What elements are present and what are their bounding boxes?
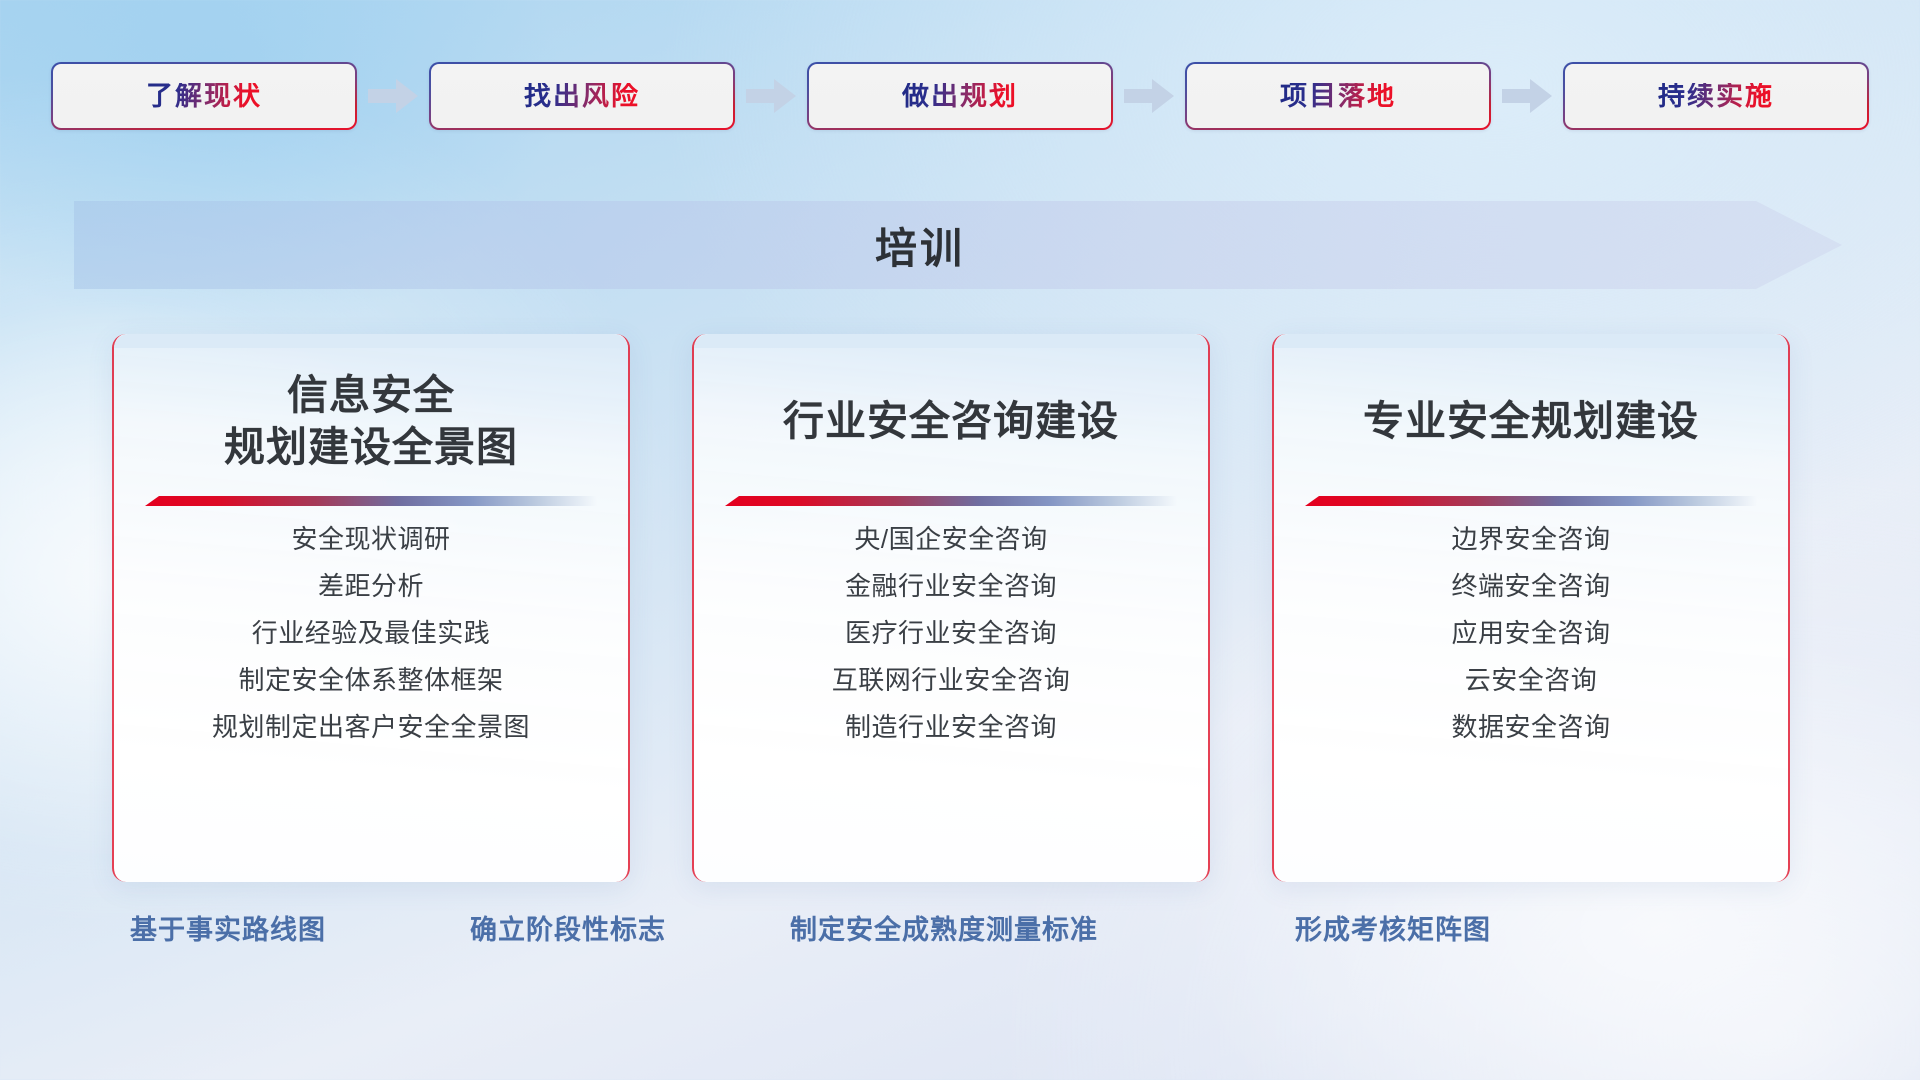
list-item: 终端安全咨询 xyxy=(1451,567,1610,606)
card-title-1-line-1: 信息安全 xyxy=(224,369,518,421)
footer-label-2: 确立阶段性标志 xyxy=(470,908,666,947)
step-label-1: 了解现状 xyxy=(146,83,262,110)
step-label-5: 持续实施 xyxy=(1658,83,1774,110)
process-steps-row: 了解现状 找出风险 做出规划 项目落地 持续实施 xyxy=(0,58,1920,134)
arrow-right-icon xyxy=(735,74,807,118)
card-title-3-line-1: 专业安全规划建设 xyxy=(1363,395,1699,447)
footer-label-1: 基于事实路线图 xyxy=(130,908,326,947)
step-wrap-4: 项目落地 xyxy=(1185,62,1563,130)
step-wrap-1: 了解现状 xyxy=(51,62,429,130)
list-item: 数据安全咨询 xyxy=(1451,708,1610,747)
step-label-4: 项目落地 xyxy=(1280,83,1396,110)
step-box-1[interactable]: 了解现状 xyxy=(51,62,357,130)
list-item: 边界安全咨询 xyxy=(1451,520,1610,559)
footer-labels-row: 基于事实路线图 确立阶段性标志 制定安全成熟度测量标准 形成考核矩阵图 xyxy=(0,908,1920,954)
list-item: 金融行业安全咨询 xyxy=(845,567,1057,606)
arrow-right-icon xyxy=(357,74,429,118)
card-title-3: 专业安全规划建设 xyxy=(1363,368,1699,474)
list-item: 差距分析 xyxy=(318,567,424,606)
card-title-1-line-2: 规划建设全景图 xyxy=(224,421,518,473)
step-wrap-3: 做出规划 xyxy=(807,62,1185,130)
step-label-3: 做出规划 xyxy=(902,83,1018,110)
list-item: 互联网行业安全咨询 xyxy=(832,661,1071,700)
list-item: 医疗行业安全咨询 xyxy=(845,614,1057,653)
background-blob-top-left xyxy=(0,0,560,340)
arrow-right-icon xyxy=(1113,74,1185,118)
list-item: 应用安全咨询 xyxy=(1451,614,1610,653)
footer-label-3: 制定安全成熟度测量标准 xyxy=(790,908,1098,947)
list-item: 制定安全体系整体框架 xyxy=(238,661,503,700)
list-item: 央/国企安全咨询 xyxy=(854,520,1047,559)
card-info-security-blueprint[interactable]: 信息安全 规划建设全景图 安全现状调研 差距分析 行业经验及最佳实践 制定安全体… xyxy=(112,334,630,882)
card-list-3: 边界安全咨询 终端安全咨询 应用安全咨询 云安全咨询 数据安全咨询 xyxy=(1300,520,1762,747)
step-box-5[interactable]: 持续实施 xyxy=(1563,62,1869,130)
step-label-2: 找出风险 xyxy=(524,83,640,110)
footer-label-4: 形成考核矩阵图 xyxy=(1295,908,1491,947)
card-divider-3 xyxy=(1305,496,1757,506)
arrow-right-icon xyxy=(1491,74,1563,118)
card-title-2: 行业安全咨询建设 xyxy=(783,368,1119,474)
step-box-2[interactable]: 找出风险 xyxy=(429,62,735,130)
card-list-1: 安全现状调研 差距分析 行业经验及最佳实践 制定安全体系整体框架 规划制定出客户… xyxy=(140,520,602,747)
card-title-2-line-1: 行业安全咨询建设 xyxy=(783,395,1119,447)
list-item: 安全现状调研 xyxy=(291,520,450,559)
cards-row: 信息安全 规划建设全景图 安全现状调研 差距分析 行业经验及最佳实践 制定安全体… xyxy=(0,334,1920,882)
step-box-3[interactable]: 做出规划 xyxy=(807,62,1113,130)
list-item: 行业经验及最佳实践 xyxy=(252,614,491,653)
card-divider-2 xyxy=(725,496,1177,506)
training-banner: 培训 xyxy=(74,201,1842,289)
card-industry-security-consulting[interactable]: 行业安全咨询建设 央/国企安全咨询 金融行业安全咨询 医疗行业安全咨询 互联网行… xyxy=(692,334,1210,882)
banner-title: 培训 xyxy=(74,201,1842,289)
card-title-1: 信息安全 规划建设全景图 xyxy=(224,368,518,474)
step-wrap-5: 持续实施 xyxy=(1563,62,1869,130)
list-item: 云安全咨询 xyxy=(1465,661,1598,700)
step-wrap-2: 找出风险 xyxy=(429,62,807,130)
list-item: 制造行业安全咨询 xyxy=(845,708,1057,747)
step-box-4[interactable]: 项目落地 xyxy=(1185,62,1491,130)
card-divider-1 xyxy=(145,496,597,506)
card-list-2: 央/国企安全咨询 金融行业安全咨询 医疗行业安全咨询 互联网行业安全咨询 制造行… xyxy=(720,520,1182,747)
card-professional-security-planning[interactable]: 专业安全规划建设 边界安全咨询 终端安全咨询 应用安全咨询 云安全咨询 数据安全… xyxy=(1272,334,1790,882)
list-item: 规划制定出客户安全全景图 xyxy=(212,708,530,747)
